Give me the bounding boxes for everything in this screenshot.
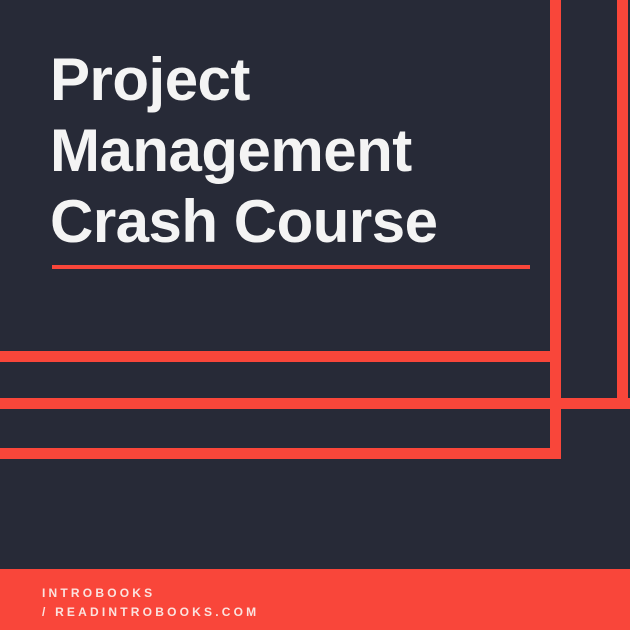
publisher-website: / READINTROBOOKS.COM [42, 603, 259, 622]
decorative-vertical-rule-outer [617, 0, 628, 409]
footer-band: INTROBOOKS / READINTROBOOKS.COM [0, 569, 630, 630]
decorative-horizontal-rule-middle [0, 398, 630, 409]
title-line-1: Project [50, 44, 550, 115]
title-underline-rule [52, 265, 530, 269]
decorative-horizontal-rule-bottom [0, 448, 561, 459]
publisher-name: INTROBOOKS [42, 584, 259, 603]
title-line-3: Crash Course [50, 186, 550, 257]
decorative-horizontal-rule-top [0, 351, 561, 362]
footer-text-group: INTROBOOKS / READINTROBOOKS.COM [42, 584, 259, 622]
cover-title: Project Management Crash Course [50, 44, 550, 257]
book-cover: Project Management Crash Course INTROBOO… [0, 0, 630, 630]
title-line-2: Management [50, 115, 550, 186]
decorative-vertical-rule-inner [550, 0, 561, 459]
